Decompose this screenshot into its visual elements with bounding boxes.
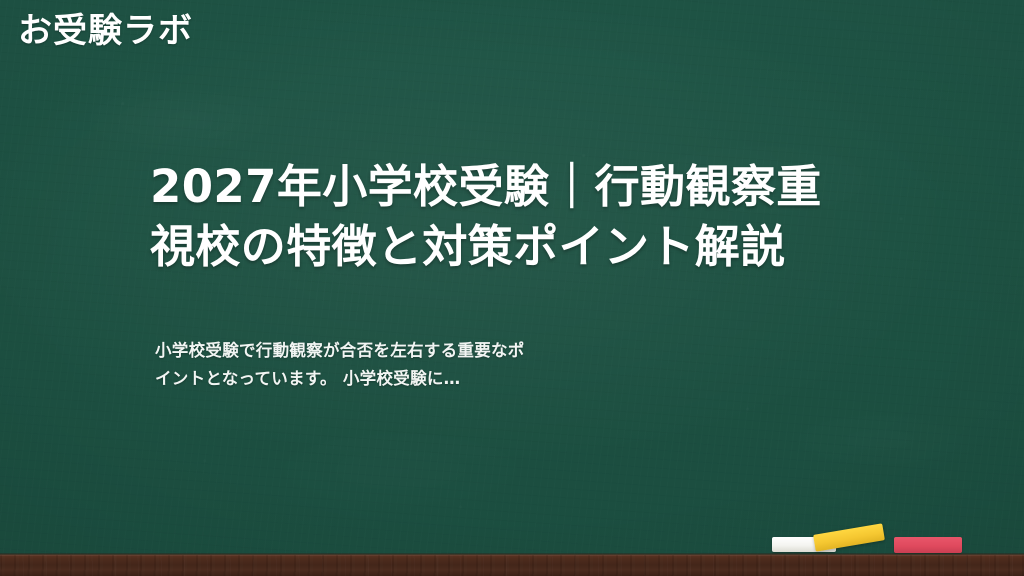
chalkboard-surface — [0, 0, 1024, 576]
chalk-ledge — [0, 555, 1024, 576]
page-title-line-2: 視校の特徴と対策ポイント解説 — [150, 217, 910, 277]
page-title: 2027年小学校受験｜行動観察重 視校の特徴と対策ポイント解説 — [150, 157, 910, 277]
page-description: 小学校受験で行動観察が合否を左右する重要なポ イントとなっています。 小学校受験… — [155, 337, 715, 393]
page-title-line-1: 2027年小学校受験｜行動観察重 — [150, 157, 910, 217]
site-logo[interactable]: お受験ラボ — [18, 9, 193, 53]
red-chalk-icon — [894, 537, 962, 553]
ledge-wood-grain — [0, 555, 1024, 576]
chalkboard-thumbnail: お受験ラボ 2027年小学校受験｜行動観察重 視校の特徴と対策ポイント解説 小学… — [0, 0, 1024, 576]
page-description-line-1: 小学校受験で行動観察が合否を左右する重要なポ — [155, 337, 715, 365]
page-description-line-2: イントとなっています。 小学校受験に… — [155, 365, 715, 393]
